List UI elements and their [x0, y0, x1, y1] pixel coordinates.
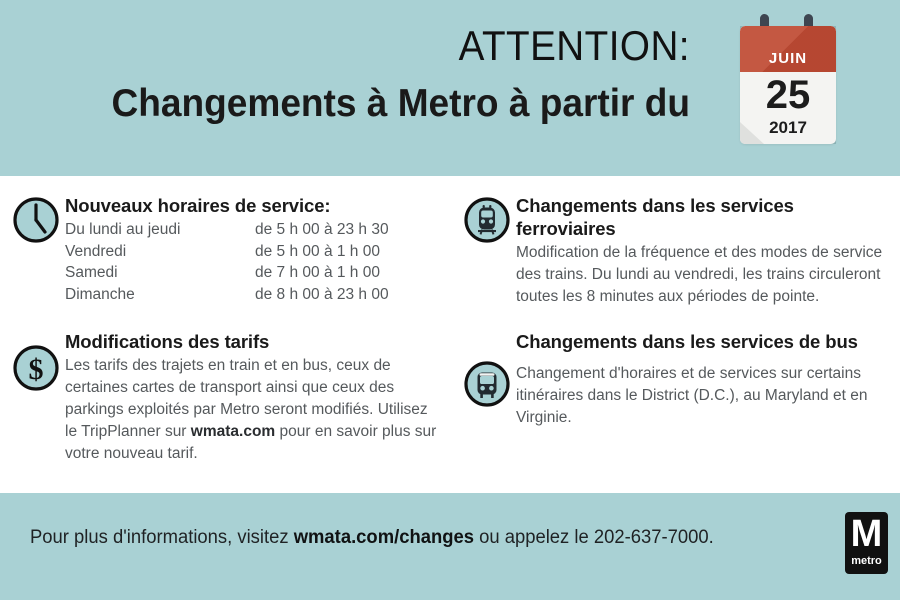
section-schedule-content: Nouveaux horaires de service: Du lundi a…	[65, 194, 442, 305]
schedule-day: Vendredi	[65, 241, 255, 263]
metro-logo-wordmark: metro	[845, 555, 888, 568]
section-rail-body: Modification de la fréquence et des mode…	[516, 242, 893, 308]
schedule-table: Du lundi au jeudi de 5 h 00 à 23 h 30 Ve…	[65, 219, 442, 305]
clock-icon	[12, 196, 60, 244]
footer-text-1: Pour plus d'informations, visitez	[30, 527, 294, 548]
header-banner: ATTENTION: Changements à Metro à partir …	[0, 0, 900, 176]
section-fares-title: Modifications des tarifs	[65, 330, 442, 353]
section-schedule-title: Nouveaux horaires de service:	[65, 194, 442, 217]
calendar-body: JUIN 25 2017	[740, 26, 836, 144]
section-bus-content: Changements dans les services de bus Cha…	[516, 330, 900, 429]
calendar-month: JUIN	[740, 50, 836, 67]
footer-message: Pour plus d'informations, visitez wmata.…	[30, 525, 714, 551]
calendar-day: 25	[740, 74, 836, 116]
footer-banner: Pour plus d'informations, visitez wmata.…	[0, 493, 900, 600]
table-row: Samedi de 7 h 00 à 1 h 00	[65, 262, 442, 284]
attention-eyebrow: ATTENTION:	[83, 18, 690, 74]
fares-link: wmata.com	[191, 423, 275, 440]
infographic-poster: ATTENTION: Changements à Metro à partir …	[0, 0, 900, 600]
calendar-year: 2017	[740, 118, 836, 138]
footer-link[interactable]: wmata.com/changes	[294, 527, 474, 548]
section-fares-content: Modifications des tarifs Les tarifs des …	[65, 330, 442, 465]
section-fares-body: Les tarifs des trajets en train et en bu…	[65, 355, 442, 465]
body-area: Nouveaux horaires de service: Du lundi a…	[0, 176, 900, 493]
schedule-hours: de 8 h 00 à 23 h 00	[255, 284, 442, 306]
bus-icon	[463, 360, 511, 408]
section-bus-title: Changements dans les services de bus	[516, 330, 900, 353]
schedule-day: Dimanche	[65, 284, 255, 306]
calendar-icon: JUIN 25 2017	[722, 12, 882, 162]
schedule-table-body: Du lundi au jeudi de 5 h 00 à 23 h 30 Ve…	[65, 219, 442, 305]
schedule-hours: de 5 h 00 à 23 h 30	[255, 219, 442, 241]
section-rail-content: Changements dans les services ferroviair…	[516, 194, 893, 308]
svg-text:$: $	[29, 353, 44, 386]
schedule-hours: de 7 h 00 à 1 h 00	[255, 262, 442, 284]
header-text-group: ATTENTION: Changements à Metro à partir …	[30, 18, 690, 130]
schedule-day: Samedi	[65, 262, 255, 284]
schedule-hours: de 5 h 00 à 1 h 00	[255, 241, 442, 263]
train-icon	[463, 196, 511, 244]
page-title: Changements à Metro à partir du	[63, 78, 690, 130]
table-row: Dimanche de 8 h 00 à 23 h 00	[65, 284, 442, 306]
footer-text-2: ou appelez le 202-637-7000.	[474, 527, 714, 548]
section-bus-body: Changement d'horaires et de services sur…	[516, 363, 900, 429]
schedule-day: Du lundi au jeudi	[65, 219, 255, 241]
table-row: Du lundi au jeudi de 5 h 00 à 23 h 30	[65, 219, 442, 241]
table-row: Vendredi de 5 h 00 à 1 h 00	[65, 241, 442, 263]
dollar-icon: $	[12, 344, 60, 392]
metro-logo: M metro	[845, 512, 888, 574]
section-rail-title: Changements dans les services ferroviair…	[516, 194, 893, 240]
metro-logo-letter: M	[845, 513, 888, 555]
